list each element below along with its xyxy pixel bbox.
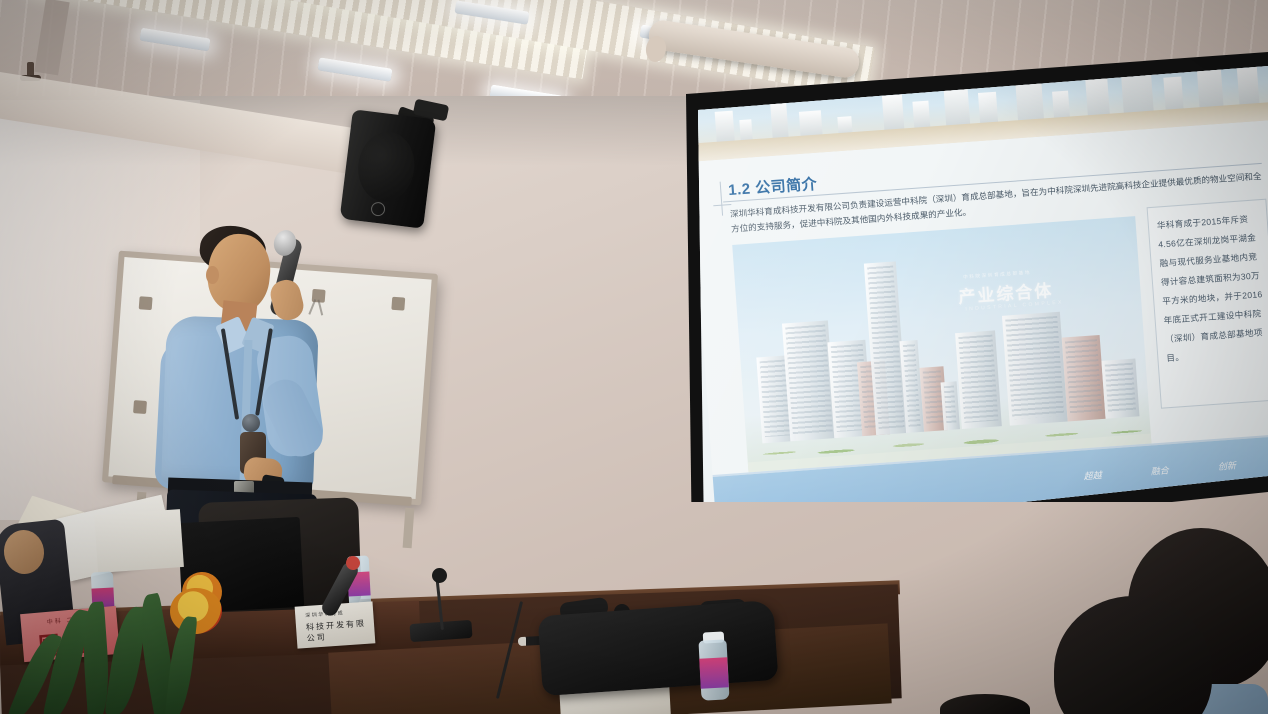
projection-screen: 1.2 公司简介 深圳华科育成科技开发有限公司负责建设运营中科院（深圳）育成总部…: [672, 52, 1268, 502]
skyline-building: [770, 99, 789, 142]
slide-callout-box: 华科育成于2015年斥资4.56亿在深圳龙岗平湖金融与现代服务业基地内竞得计容总…: [1147, 199, 1268, 409]
skyline-building: [1085, 74, 1110, 119]
foreground-plant: [0, 602, 230, 714]
presenter-ear: [206, 266, 219, 284]
water-bottle-label: [699, 657, 729, 688]
laptop-bag: [537, 600, 778, 696]
papers: [94, 509, 184, 573]
speaker-cone: [354, 129, 418, 205]
microphone-capsule-icon: [432, 568, 447, 583]
speaker-logo-icon: [370, 201, 386, 217]
whiteboard-clip: [133, 400, 147, 414]
render-tower: [955, 330, 1002, 429]
whiteboard-clip: [391, 297, 405, 311]
footer-word: 超越: [1083, 468, 1102, 482]
slide-rendering-image: 中科院深圳育成总部基地 产业综合体 INDUSTRIAL COMPLEX: [732, 216, 1151, 472]
name-card-name: 科技开发有限公司: [306, 617, 375, 644]
render-tower: [1002, 312, 1068, 426]
footer-word: 融合: [1150, 463, 1169, 477]
badge-reel: [242, 414, 260, 432]
footer-word: 创新: [1217, 459, 1236, 473]
screen-surface: 1.2 公司简介 深圳华科育成科技开发有限公司负责建设运营中科院（深圳）育成总部…: [672, 52, 1268, 502]
wall-speaker: [340, 109, 437, 228]
render-tower: [782, 320, 836, 441]
slide-footer-words: 超越 融合 创新 共生: [1083, 454, 1268, 483]
screenshot-root: 1.2 公司简介 深圳华科育成科技开发有限公司负责建设运营中科院（深圳）育成总部…: [0, 0, 1268, 714]
plant-leaf: [165, 615, 198, 714]
presenter: [150, 228, 350, 528]
presentation-slide: 1.2 公司简介 深圳华科育成科技开发有限公司负责建设运营中科院（深圳）育成总部…: [684, 52, 1268, 502]
slide-callout-text: 华科育成于2015年斥资4.56亿在深圳龙岗平湖金融与现代服务业基地内竞得计容总…: [1148, 200, 1268, 378]
presenter-right-hand: [268, 277, 307, 323]
